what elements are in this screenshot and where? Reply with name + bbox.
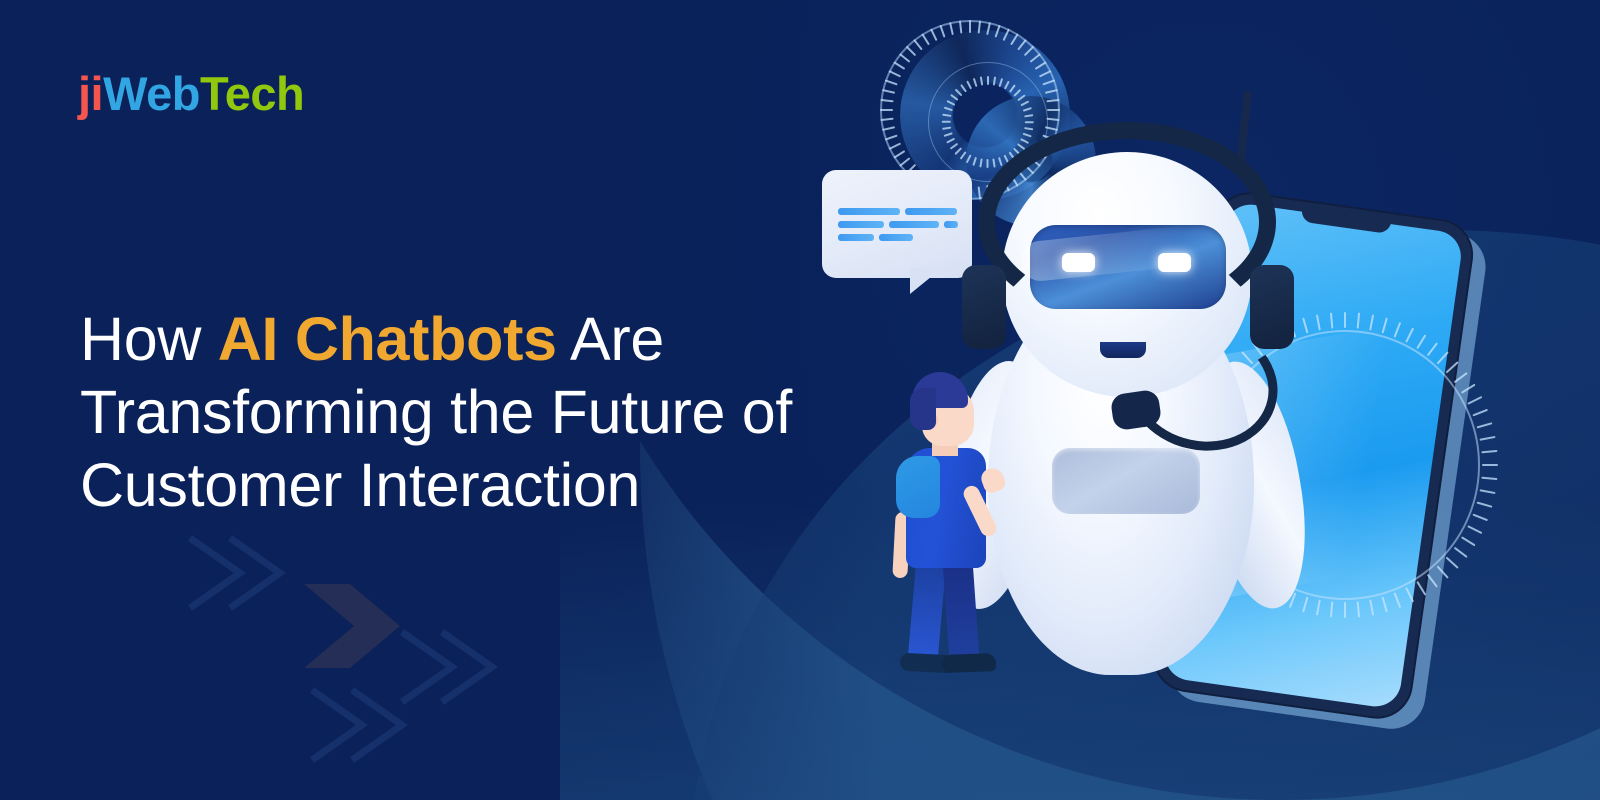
chevron-outline-bottom-right-icon: [390, 622, 510, 712]
tech-ring-tick: [1427, 574, 1438, 588]
tech-ring-tick: [994, 25, 1000, 38]
tech-ring-tick: [959, 20, 962, 33]
tech-ring-tick: [1427, 342, 1438, 356]
tech-ring-tick: [1482, 464, 1498, 466]
tech-ring-tick: [882, 89, 895, 94]
tech-ring-tick: [899, 157, 910, 167]
headline-line-3: Customer Interaction: [80, 451, 640, 519]
tech-ring-tick: [899, 53, 910, 63]
person-leg-back: [908, 557, 947, 663]
tech-ring-tick: [1416, 334, 1426, 349]
tech-ring-tick: [1461, 384, 1476, 394]
chat-bubble-line-bar: [838, 208, 900, 215]
page-title: How AI Chatbots Are Transforming the Fut…: [80, 303, 840, 522]
tech-ring-tick: [969, 20, 971, 33]
tech-ring-tick: [978, 20, 981, 33]
tech-ring-tick: [1369, 314, 1374, 330]
chevron-outline-top-left-icon: [178, 528, 298, 618]
tech-ring-tick: [1481, 477, 1497, 480]
tech-ring-tick: [1479, 489, 1495, 494]
tech-ring-tick: [1369, 599, 1374, 615]
tech-ring-tick: [930, 28, 937, 41]
headset-earcup-right: [1250, 265, 1294, 349]
tech-ring-tick: [939, 25, 945, 38]
person-sleeve: [896, 456, 940, 518]
tech-ring-tick: [1382, 318, 1388, 334]
tech-ring-tick: [1437, 566, 1449, 579]
tech-ring-tick: [1394, 322, 1402, 338]
headline-line-2: Transforming the Future of: [80, 378, 792, 446]
person-shoe-front: [942, 653, 997, 673]
headset-earcup-left: [962, 265, 1006, 349]
robot-chest-panel: [1052, 448, 1200, 514]
tech-ring-tick: [893, 150, 905, 159]
person-hair-side: [910, 388, 936, 430]
tech-ring-tick: [1454, 372, 1468, 383]
headline-line-1-suffix: Are: [557, 305, 664, 373]
tech-ring-tick: [1394, 592, 1402, 608]
tech-ring-tick: [1461, 536, 1476, 546]
tech-ring-tick: [1467, 396, 1482, 405]
tech-ring-tick: [1010, 33, 1019, 45]
logo-part-web: Web: [103, 67, 200, 120]
tech-ring-tick: [986, 22, 991, 35]
tech-ring-tick: [1405, 587, 1414, 602]
tech-ring-tick: [1437, 351, 1449, 364]
tech-ring-tick: [1476, 502, 1492, 508]
tech-ring-tick: [906, 46, 917, 57]
tech-ring-tick: [1357, 313, 1360, 329]
brand-logo[interactable]: jiWebTech: [78, 70, 304, 117]
headline-line-1-prefix: How: [80, 305, 218, 373]
tech-ring-tick: [1405, 328, 1414, 343]
tech-ring-tick: [921, 33, 930, 45]
hero-banner: jiWebTech How AI Chatbots Are Transformi…: [0, 0, 1600, 800]
tech-ring-tick: [1472, 409, 1488, 417]
logo-part-ji: ji: [78, 67, 103, 120]
headset-band: [978, 122, 1276, 322]
tech-ring-tick: [913, 39, 923, 50]
tech-ring-tick: [880, 118, 893, 121]
chat-bubble-line-bar: [879, 234, 913, 241]
tech-ring-tick: [1481, 450, 1497, 453]
chat-bubble-line-bar: [838, 221, 884, 228]
chat-bubble-line-bar: [838, 234, 874, 241]
tech-ring-tick: [893, 61, 905, 70]
tech-ring-tick: [1476, 422, 1492, 428]
tech-ring-tick: [1017, 39, 1027, 50]
tech-ring-tick: [1446, 361, 1459, 373]
tech-ring-tick: [880, 109, 893, 111]
tech-ring-tick: [1024, 46, 1035, 57]
tech-ring-tick: [1472, 514, 1488, 522]
tech-ring-tick: [1467, 525, 1482, 534]
tech-ring-tick: [1479, 436, 1495, 441]
tech-ring-tick: [1416, 581, 1426, 596]
tech-ring-tick: [882, 126, 895, 131]
tech-ring-tick: [880, 99, 893, 102]
tech-ring-tick: [1382, 596, 1388, 612]
tech-ring-tick: [949, 22, 954, 35]
tech-ring-tick: [888, 143, 901, 150]
tech-ring-tick: [1003, 28, 1010, 41]
customer-person: [880, 372, 1010, 672]
headline-accent: AI Chatbots: [218, 305, 557, 373]
hero-illustration: [780, 0, 1600, 800]
person-leg-front: [942, 557, 979, 663]
tech-ring-tick: [1357, 601, 1360, 617]
tech-ring-tick: [885, 134, 898, 140]
tech-ring-tick: [885, 79, 898, 85]
tech-ring-tick: [888, 70, 901, 77]
tech-ring-tick: [1454, 547, 1468, 558]
tech-ring-tick: [1446, 557, 1459, 569]
logo-part-tech: Tech: [200, 67, 304, 120]
